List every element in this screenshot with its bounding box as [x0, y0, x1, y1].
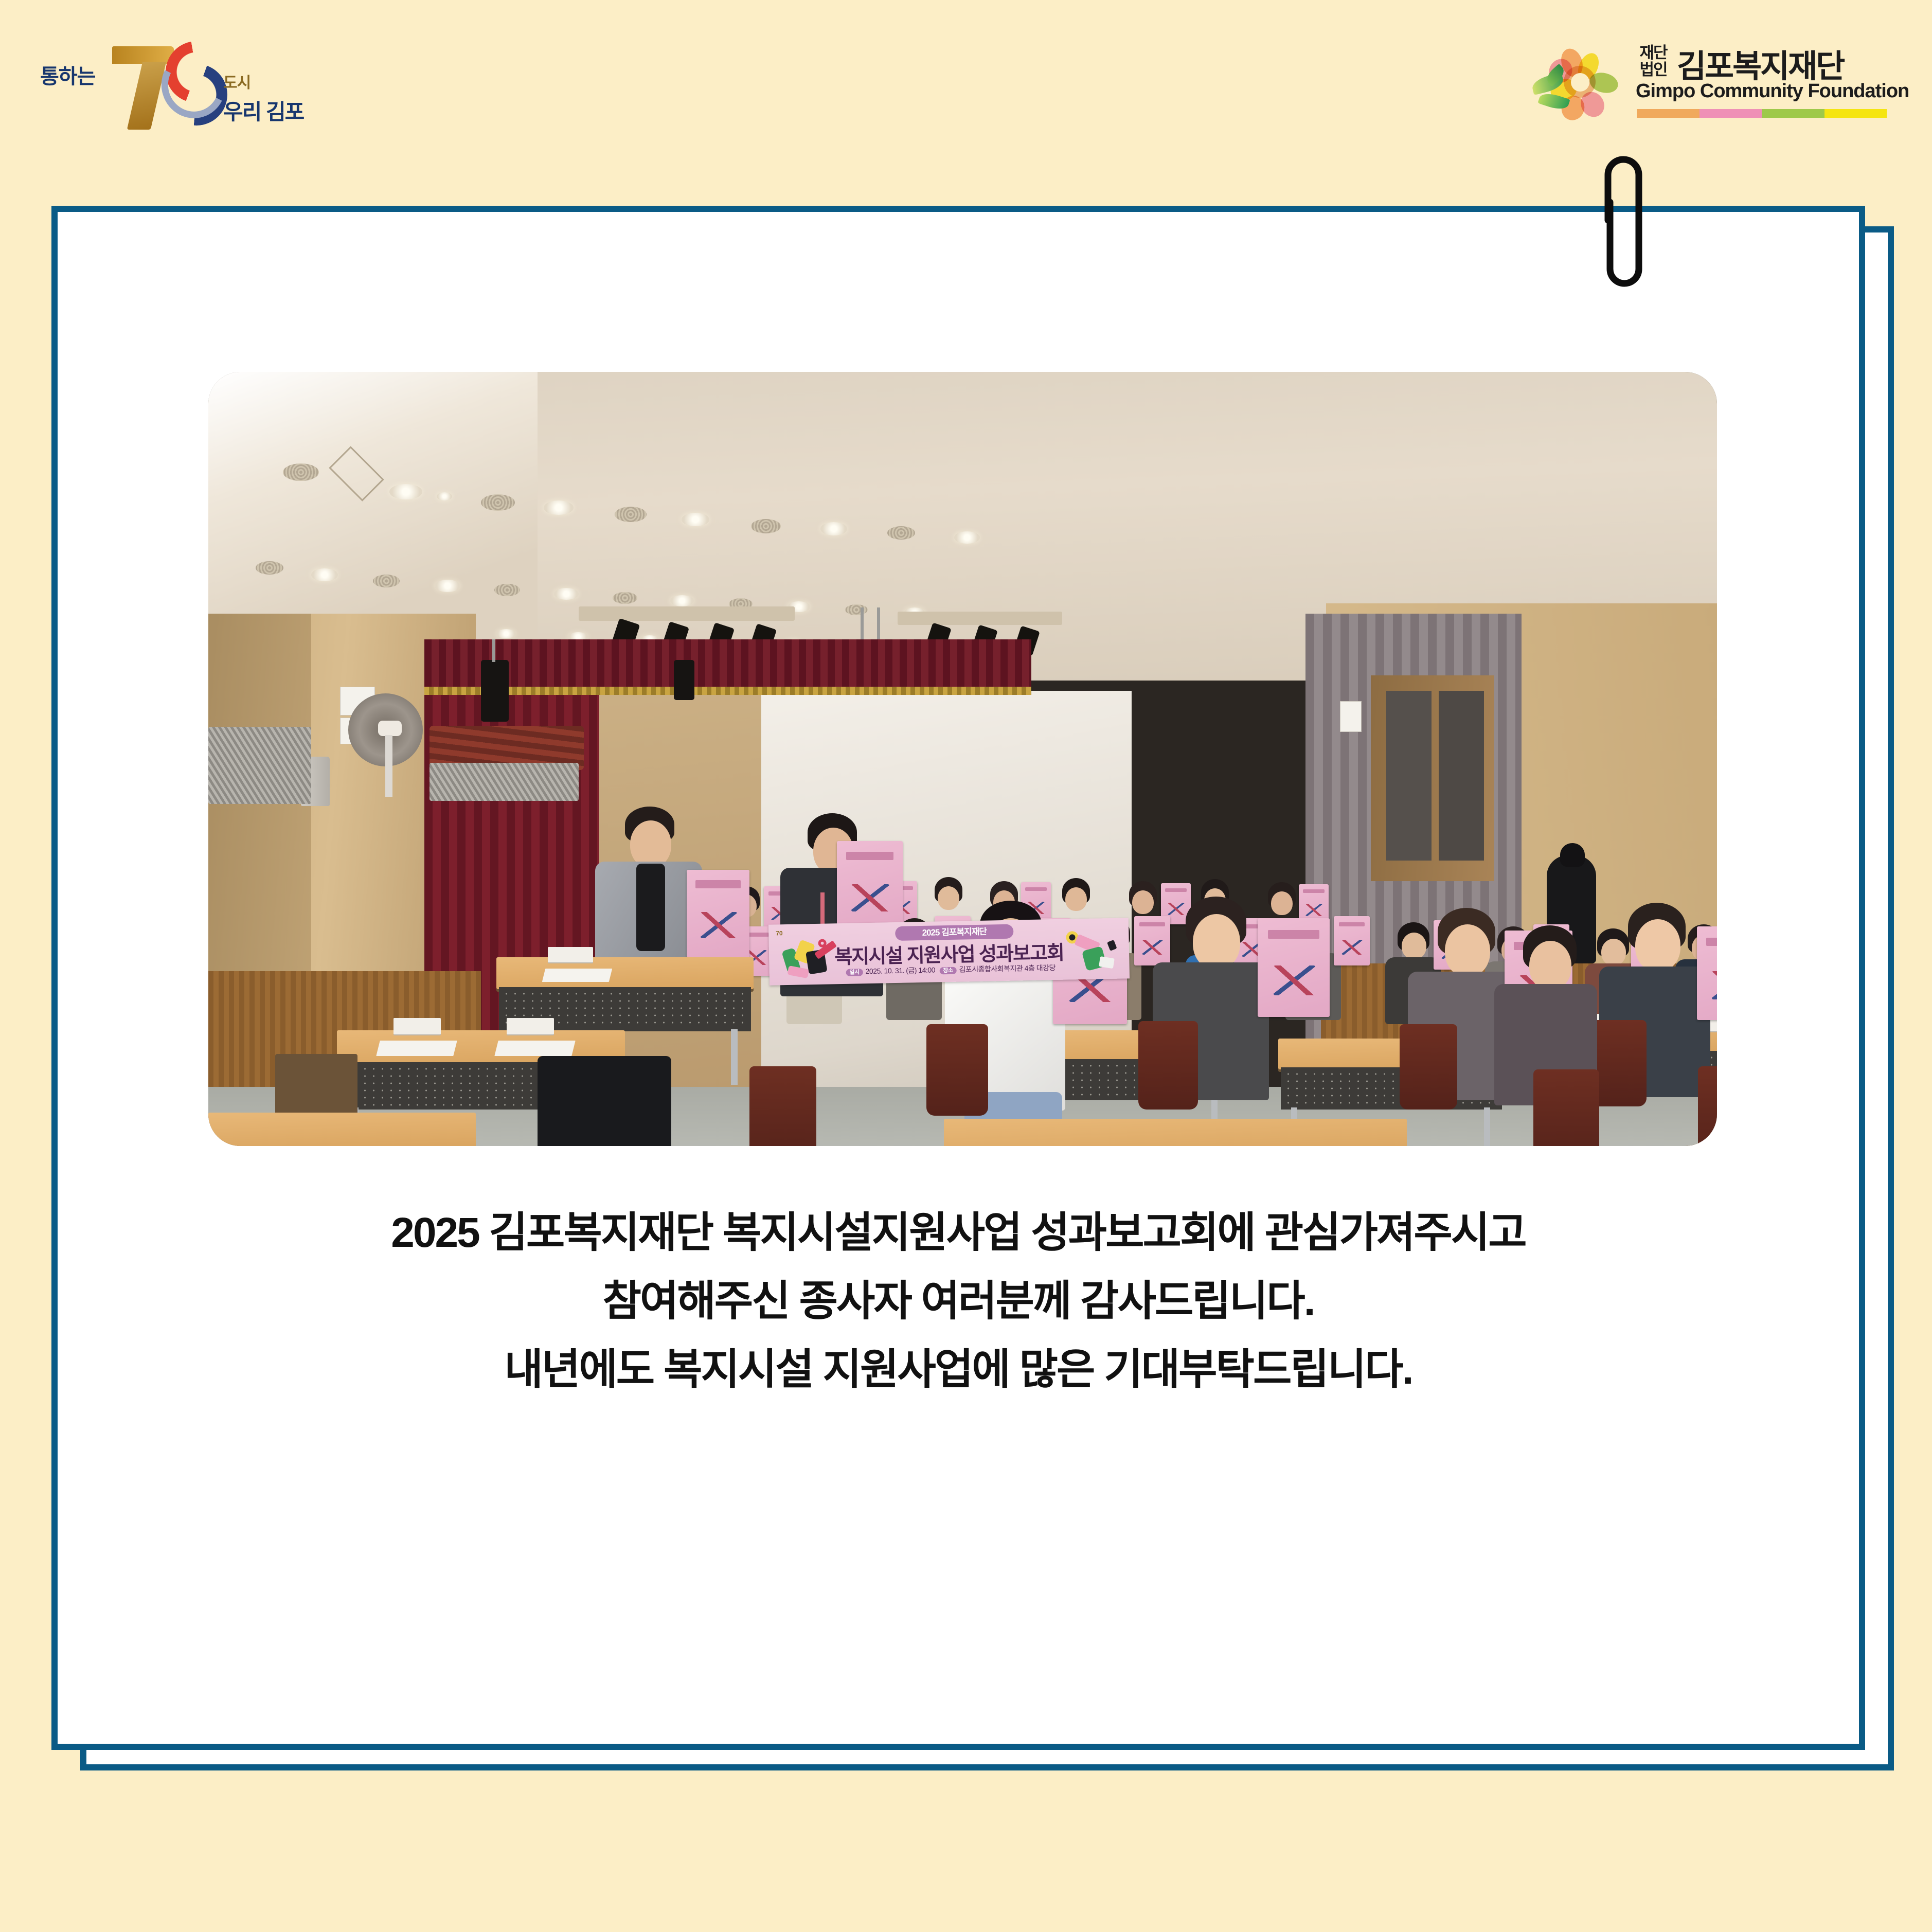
caption-line-2: 참여해주신 종사자 여러분께 감사드립니다. [51, 1267, 1865, 1335]
city-logo-sub-small: 도시 [223, 70, 251, 93]
event-banner: 70 2025 김포복지재단 복지시설 지원사업 성과보고회 일시2025. 1… [768, 918, 1130, 985]
header: 통하는 도시 우리 김포 [0, 0, 1932, 170]
event-group-photo: 70 2025 김포복지재단 복지시설 지원사업 성과보고회 일시2025. 1… [208, 372, 1717, 1146]
foundation-name-korean: 김포복지재단 [1677, 40, 1844, 86]
foundation-prefix-line1: 재단 [1635, 44, 1672, 61]
gimpo-city-70th-logo: 통하는 도시 우리 김포 [40, 45, 359, 133]
pink-program-booklet [687, 870, 749, 957]
caption-block: 2025 김포복지재단 복지시설지원사업 성과보고회에 관심가져주시고 참여해주… [51, 1198, 1865, 1404]
foundation-prefix-line2: 법인 [1635, 61, 1672, 78]
caption-line-1: 2025 김포복지재단 복지시설지원사업 성과보고회에 관심가져주시고 [51, 1198, 1865, 1267]
banner-city-logo: 70 [776, 929, 783, 937]
banner-place-label: 장소 [939, 967, 957, 975]
banner-date-label: 일시 [846, 969, 863, 976]
foundation-name-english: Gimpo Community Foundation [1636, 80, 1909, 102]
banner-date-value: 2025. 10. 31. (금) 14:00 [866, 966, 936, 976]
flower-mark-icon [1532, 47, 1624, 124]
gimpo-community-foundation-logo: 재단 법인 김포복지재단 Gimpo Community Foundation [1532, 40, 1892, 133]
foundation-prefix: 재단 법인 [1635, 44, 1672, 78]
paperclip-icon [1589, 153, 1646, 292]
foundation-color-bar [1637, 109, 1887, 118]
caption-line-3: 내년에도 복지시설 지원사업에 많은 기대부탁드립니다. [51, 1335, 1865, 1404]
city-logo-sub-large: 우리 김포 [223, 95, 303, 126]
banner-place-value: 김포시종합사회복지관 4층 대강당 [959, 963, 1056, 974]
city-logo-tagline: 통하는 [40, 60, 95, 90]
